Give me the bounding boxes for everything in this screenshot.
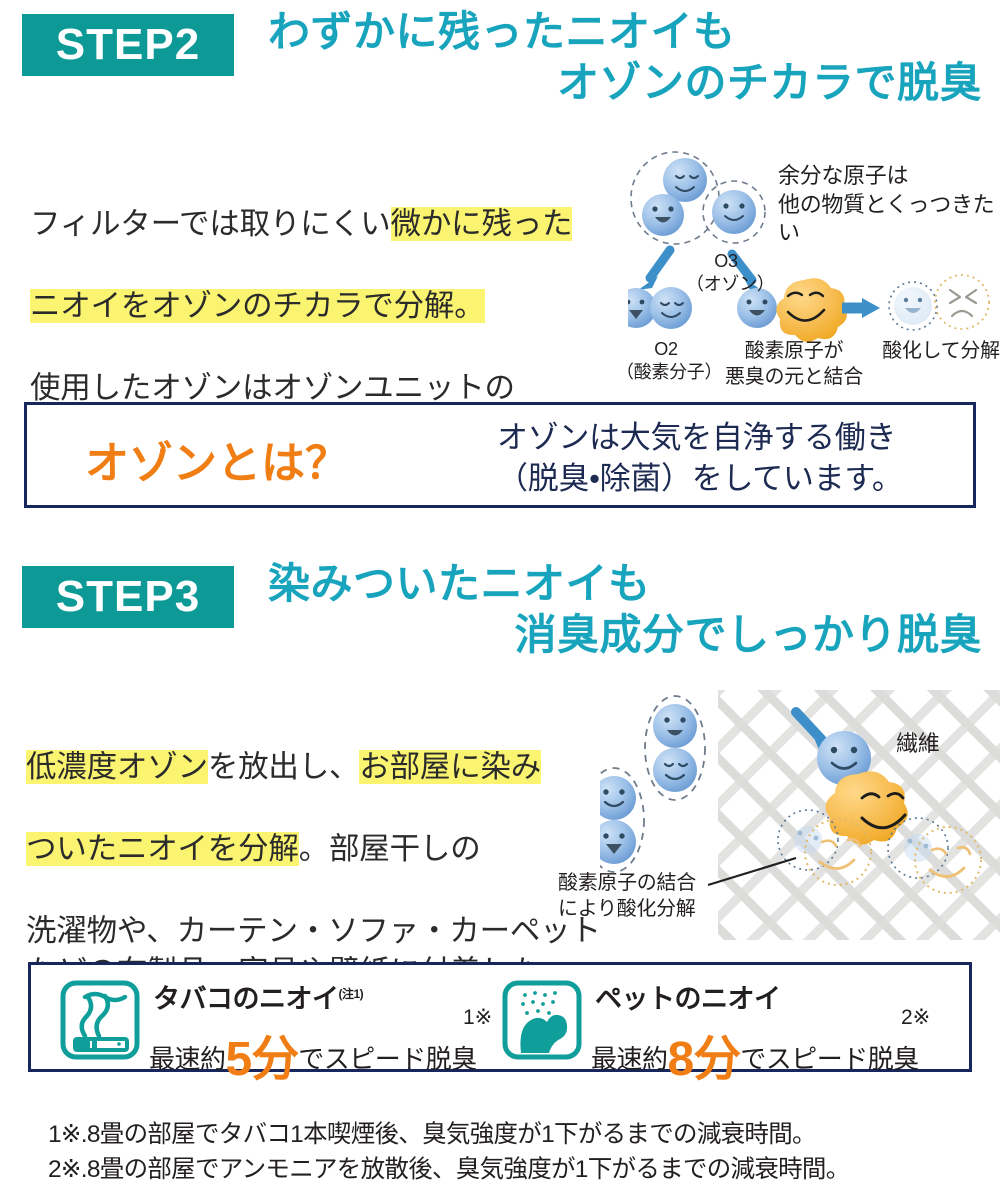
footnotes: 1※.8畳の部屋でタバコ1本喫煙後、臭気強度が1下がるまでの減衰時間。 2※.8… bbox=[48, 1118, 978, 1188]
step2-title-line2: オゾンのチカラで脱臭 bbox=[268, 57, 988, 108]
result-minutes-tobacco: 5分 bbox=[226, 1033, 299, 1086]
fiber-bond-label: 酸素原子の結合 により酸化分解 bbox=[558, 870, 728, 922]
step2-body-pre: フィルターでは取りにくい bbox=[30, 207, 391, 241]
cigarette-smoke-icon bbox=[59, 979, 141, 1061]
ozone-definition-box: オゾンとは？ オゾンは大気を自浄する働き （脱臭•除菌）をしています。 bbox=[24, 402, 976, 508]
step2-badge: STEP2 bbox=[22, 14, 234, 76]
dog-head-icon bbox=[501, 979, 583, 1061]
bond-label: 酸素原子が 悪臭の元と結合 bbox=[714, 338, 874, 390]
step3-title-line1: 染みついたニオイも bbox=[268, 558, 988, 609]
result-suffix-pet: でスピード脱臭 bbox=[740, 1044, 919, 1074]
result-line-pet: 最速約8分でスピード脱臭 bbox=[591, 1019, 919, 1089]
fiber-label: 繊維 bbox=[896, 730, 939, 759]
molecule-u1 bbox=[653, 704, 697, 748]
ozone-question: オゾンとは？ bbox=[85, 427, 349, 491]
step3-header: STEP3 染みついたニオイも 消臭成分でしっかり脱臭 bbox=[0, 552, 1000, 682]
result-line-tobacco: 最速約5分でスピード脱臭 bbox=[149, 1019, 477, 1089]
molecule-l1 bbox=[600, 776, 636, 820]
result-title-tobacco: タバコのニオイ(注1) bbox=[153, 977, 363, 1016]
arrow-to-o2 bbox=[638, 250, 670, 290]
molecule-o-left bbox=[642, 194, 684, 236]
speed-results-box: タバコのニオイ(注1) 最速約5分でスピード脱臭 1※ ペットのニオイ 最速約8… bbox=[28, 962, 972, 1072]
decomposed-odor-outline bbox=[935, 275, 989, 329]
step2-body-highlight-2: ニオイをオゾンのチカラで分解。 bbox=[30, 289, 485, 323]
step3-body-highlight-3: ついたニオイを分解 bbox=[26, 832, 299, 866]
result-title-pet-text: ペットのニオイ bbox=[595, 984, 781, 1014]
result-suffix-tobacco: でスピード脱臭 bbox=[298, 1044, 477, 1074]
step3-body-highlight-2: お部屋に染み bbox=[359, 750, 541, 784]
result-title-pet: ペットのニオイ bbox=[595, 977, 781, 1016]
step2-body-highlight-1: 微かに残った bbox=[391, 207, 573, 241]
step3-body-after: 。部屋干しの bbox=[299, 832, 481, 866]
ozone-reaction-diagram: 余分な原子は 他の物質とくっつきたい O3 （オゾン） O2 （酸素分子） 酸素… bbox=[628, 150, 1000, 390]
o2-label: O2 （酸素分子） bbox=[616, 338, 716, 385]
ozone-answer: オゾンは大気を自浄する働き （脱臭•除菌）をしています。 bbox=[497, 417, 903, 499]
step3-title-line2: 消臭成分でしっかり脱臭 bbox=[268, 609, 988, 660]
result-prefix-tobacco: 最速約 bbox=[149, 1044, 226, 1074]
excess-atom-note: 余分な原子は 他の物質とくっつきたい bbox=[778, 162, 1000, 248]
result-title-tobacco-text: タバコのニオイ bbox=[153, 984, 339, 1014]
o3-label: O3 （オゾン） bbox=[686, 250, 766, 297]
fiber-deodorize-diagram: 繊維 酸素原子の結合 により酸化分解 bbox=[600, 690, 1000, 940]
result-prefix-pet: 最速約 bbox=[591, 1044, 668, 1074]
step2-title: わずかに残ったニオイも オゾンのチカラで脱臭 bbox=[268, 6, 988, 108]
step3-body-highlight-1: 低濃度オゾン bbox=[26, 750, 208, 784]
step3-body-mid: を放出し、 bbox=[208, 750, 360, 784]
arrow-to-oxidized bbox=[842, 298, 880, 318]
molecule-o-free bbox=[712, 190, 756, 234]
result-item-tobacco: タバコのニオイ(注1) 最速約5分でスピード脱臭 1※ bbox=[59, 973, 499, 1067]
step3-title: 染みついたニオイも 消臭成分でしっかり脱臭 bbox=[268, 558, 988, 660]
result-minutes-pet: 8分 bbox=[668, 1033, 741, 1086]
result-item-pet: ペットのニオイ 最速約8分でスピード脱臭 2※ bbox=[501, 973, 951, 1067]
infographic-page: STEP2 わずかに残ったニオイも オゾンのチカラで脱臭 フィルターでは取りにく… bbox=[0, 0, 1000, 1200]
molecule-u2 bbox=[653, 748, 697, 792]
step2-header: STEP2 わずかに残ったニオイも オゾンのチカラで脱臭 bbox=[0, 0, 1000, 130]
odor-blob-bonding bbox=[776, 278, 847, 342]
molecule-l2 bbox=[600, 820, 636, 864]
step2-title-line1: わずかに残ったニオイも bbox=[268, 6, 988, 57]
oxidize-label: 酸化して分解 bbox=[876, 338, 1000, 364]
result-note-tobacco: 1※ bbox=[463, 1005, 492, 1030]
result-title-tobacco-sup: (注1) bbox=[339, 987, 364, 1001]
step3-badge: STEP3 bbox=[22, 566, 234, 628]
result-note-pet: 2※ bbox=[901, 1005, 930, 1030]
